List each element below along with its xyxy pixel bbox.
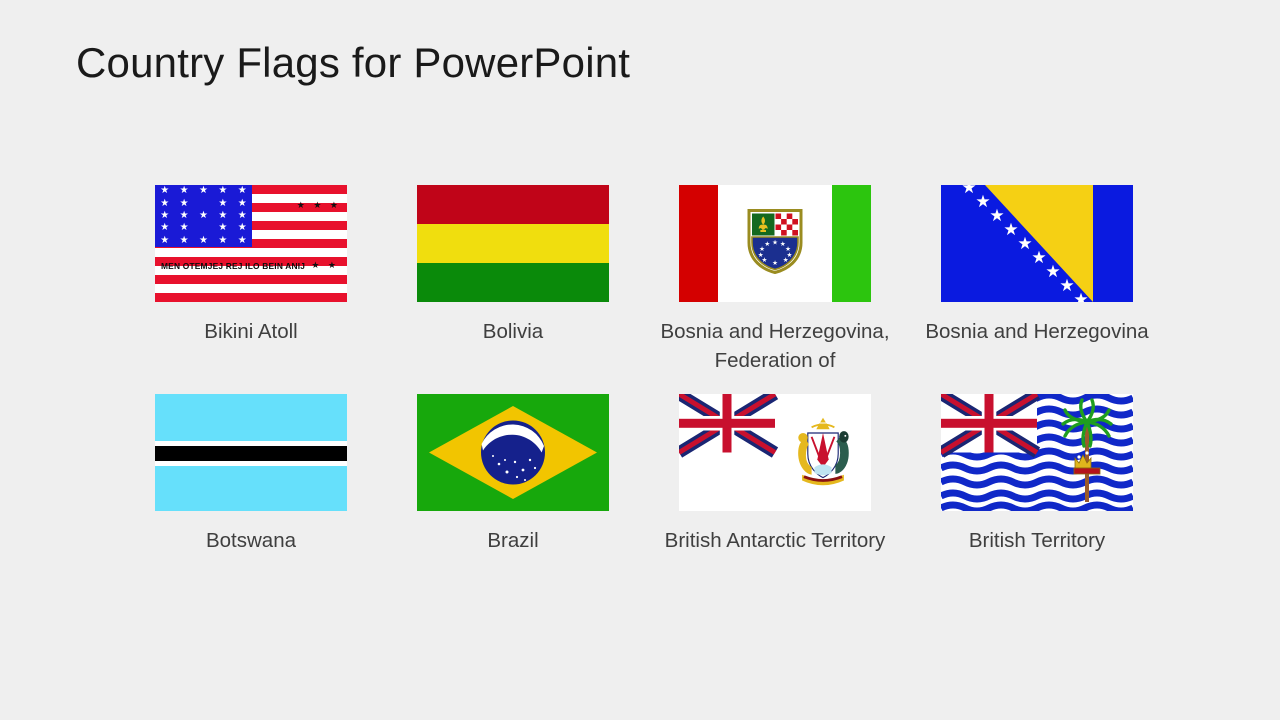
flag-caption: Brazil xyxy=(388,526,638,555)
flag-caption: Bosnia and Herzegovina, Federation of xyxy=(650,317,900,375)
svg-text:★: ★ xyxy=(772,239,778,246)
flag-cell-british-antarctic-territory[interactable]: British Antarctic Territory xyxy=(644,394,906,555)
flag-caption: British Territory xyxy=(912,526,1162,555)
svg-text:★: ★ xyxy=(1003,220,1018,240)
flag-caption: Bosnia and Herzegovina xyxy=(912,317,1162,346)
svg-text:★: ★ xyxy=(1017,234,1032,254)
flag-british-antarctic-territory[interactable] xyxy=(679,394,871,511)
flag-caption: Botswana xyxy=(126,526,376,555)
slide-canvas: Country Flags for PowerPoint ★★★★★ ★★★★★ xyxy=(0,0,1280,720)
flag-cell-bolivia[interactable]: Bolivia xyxy=(382,185,644,375)
flag-bosnia-herzegovina[interactable]: ★ ★ ★ ★ ★ ★ ★ ★ ★ xyxy=(941,185,1133,302)
svg-text:★: ★ xyxy=(783,257,789,264)
flag-caption: British Antarctic Territory xyxy=(650,526,900,555)
coat-of-arms-icon: ★ ★★ ★★ ★★ ★★ ★ xyxy=(747,208,803,279)
flag-motto-text: MEN OTEMJEJ REJ ILO BEIN ANIJ xyxy=(161,262,305,270)
flag-cell-bosnia-federation[interactable]: ★ ★★ ★★ ★★ ★★ ★ Bosnia and Herzegovina, … xyxy=(644,185,906,375)
flag-caption: Bikini Atoll xyxy=(126,317,376,346)
union-jack-canton xyxy=(679,394,775,453)
svg-text:★: ★ xyxy=(772,259,778,266)
flag-row-2: Botswana xyxy=(120,375,1170,555)
flag-caption: Bolivia xyxy=(388,317,638,346)
flag-bikini-atoll[interactable]: ★★★★★ ★★★★★ ★★★★★ ★★★★★ ★★★★★ ★ ★ ★ MEN … xyxy=(155,185,347,302)
fly-stars-upper: ★ ★ ★ xyxy=(297,201,341,210)
flag-bosnia-federation[interactable]: ★ ★★ ★★ ★★ ★★ ★ xyxy=(679,185,871,302)
flag-cell-bosnia-herzegovina[interactable]: ★ ★ ★ ★ ★ ★ ★ ★ ★ Bosnia and Herze xyxy=(906,185,1168,375)
flag-brazil[interactable] xyxy=(417,394,609,511)
svg-text:★: ★ xyxy=(1031,248,1046,268)
flag-british-territory[interactable] xyxy=(941,394,1133,511)
flag-cell-bikini-atoll[interactable]: ★★★★★ ★★★★★ ★★★★★ ★★★★★ ★★★★★ ★ ★ ★ MEN … xyxy=(120,185,382,375)
svg-text:★: ★ xyxy=(975,192,990,212)
canton-stars: ★★★★★ ★★★★★ ★★★★★ ★★★★★ ★★★★★ xyxy=(155,185,252,247)
flag-bolivia[interactable] xyxy=(417,185,609,302)
svg-text:★: ★ xyxy=(762,257,768,264)
flag-cell-british-territory[interactable]: British Territory xyxy=(906,394,1168,555)
svg-text:★: ★ xyxy=(1059,276,1074,296)
svg-text:★: ★ xyxy=(1045,262,1060,282)
fly-stars-lower: ★ ★ xyxy=(311,261,339,270)
flag-grid: ★★★★★ ★★★★★ ★★★★★ ★★★★★ ★★★★★ ★ ★ ★ MEN … xyxy=(120,185,1170,555)
flag-row-1: ★★★★★ ★★★★★ ★★★★★ ★★★★★ ★★★★★ ★ ★ ★ MEN … xyxy=(120,185,1170,375)
flag-cell-brazil[interactable]: Brazil xyxy=(382,394,644,555)
union-jack-canton xyxy=(941,394,1037,453)
svg-text:★: ★ xyxy=(989,206,1004,226)
svg-text:★: ★ xyxy=(1073,290,1088,302)
svg-text:★: ★ xyxy=(764,241,770,248)
flag-botswana[interactable] xyxy=(155,394,347,511)
flag-cell-botswana[interactable]: Botswana xyxy=(120,394,382,555)
page-title: Country Flags for PowerPoint xyxy=(76,40,630,86)
svg-text:★: ★ xyxy=(961,185,976,198)
